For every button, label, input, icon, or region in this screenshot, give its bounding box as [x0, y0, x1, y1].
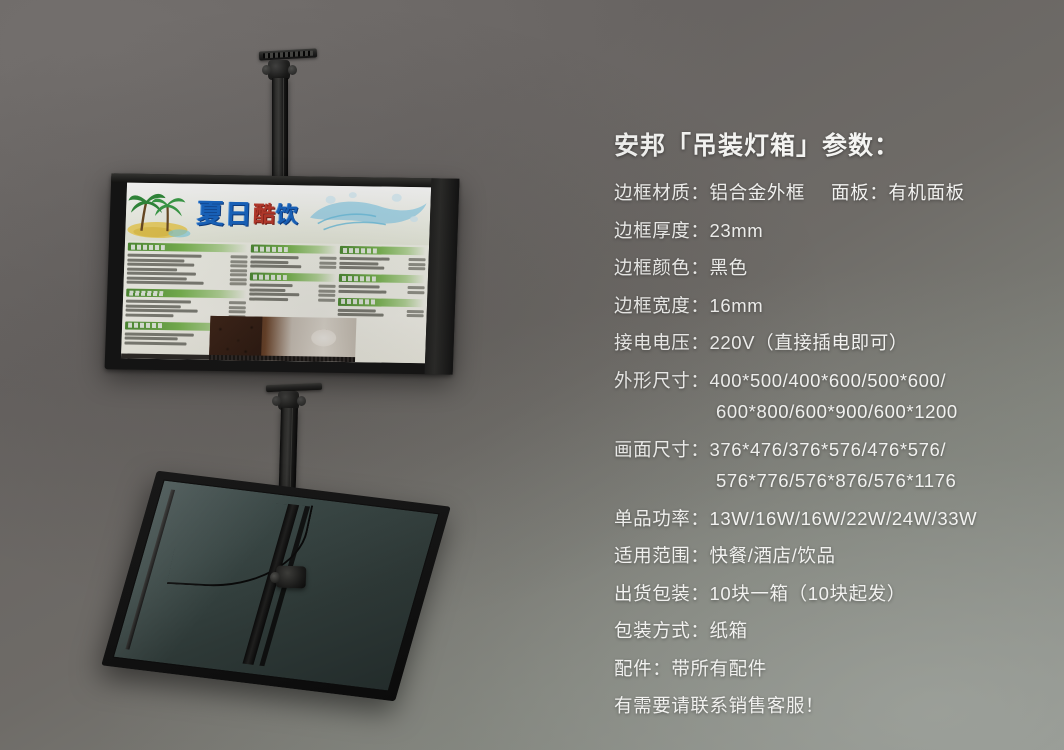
spec-value: 23mm	[710, 220, 764, 241]
hanging-lightbox-front: 夏 日 酷 饮	[105, 173, 460, 374]
menu-title-char-2: 日	[225, 201, 252, 228]
menu-title-char-4: 饮	[276, 204, 298, 226]
spec-value: 纸箱	[710, 620, 748, 641]
menu-rows	[338, 285, 424, 294]
spec-value: 220V（直接插电即可）	[710, 332, 908, 353]
spec-label: 包装方式：	[614, 620, 710, 641]
mounting-pole-top	[272, 78, 288, 182]
swivel-knob-left-lower	[272, 396, 281, 406]
spec-row-image-size: 画面尺寸：376*476/376*576/476*576/	[614, 441, 1050, 460]
spec-row-shipping-package: 出货包装：10块一箱（10块起发）	[614, 585, 1050, 604]
specs-title: 安邦「吊装灯箱」参数：	[614, 126, 1050, 162]
spec-label: 边框颜色：	[614, 257, 710, 278]
spec-row-thickness: 边框厚度：23mm	[614, 222, 1050, 241]
coffee-cup-photo	[209, 316, 357, 362]
spec-value: 铝合金外框	[710, 182, 806, 203]
section-banner	[249, 272, 335, 281]
spec-label: 单品功率：	[614, 508, 710, 529]
menu-row	[250, 260, 336, 264]
spec-label: 边框宽度：	[614, 295, 710, 316]
water-splash-graphic	[299, 187, 429, 239]
spec-label-panel: 面板：	[831, 182, 888, 203]
spec-row-voltage: 接电电压：220V（直接插电即可）	[614, 334, 1050, 353]
menu-row	[339, 261, 425, 265]
menu-row	[249, 292, 335, 296]
spec-value: 16mm	[710, 295, 764, 316]
menu-row	[339, 257, 425, 261]
menu-title-char-3: 酷	[253, 204, 275, 226]
spec-row-outer-size: 外形尺寸：400*500/400*600/500*600/	[614, 372, 1050, 391]
spec-value: 10块一箱（10块起发）	[710, 583, 906, 604]
menu-row	[250, 256, 336, 260]
swivel-knob-right-lower	[297, 396, 306, 406]
spec-row-image-size-cont: 576*776/576*876/576*1176	[614, 472, 1050, 491]
section-banner	[128, 243, 248, 253]
spec-row-material: 边框材质：铝合金外框面板：有机面板	[614, 184, 1050, 203]
menu-rows	[339, 257, 426, 270]
menu-rows	[337, 308, 423, 317]
swivel-knob-right-top	[288, 65, 297, 75]
menu-rows	[127, 254, 248, 286]
lightbox-menu-panel: 夏 日 酷 饮	[121, 183, 431, 364]
mount-clamp-knob	[270, 572, 280, 583]
pole-seam-top	[283, 78, 284, 182]
spec-label: 边框材质：	[614, 182, 710, 203]
menu-row	[250, 264, 336, 268]
back-panel-left-edge	[125, 489, 175, 649]
spec-label: 适用范围：	[614, 545, 710, 566]
spec-value: 带所有配件	[671, 658, 767, 679]
menu-title-char-1: 夏	[197, 200, 224, 227]
menu-row	[249, 283, 335, 287]
spec-label: 配件：	[614, 658, 671, 679]
spec-value: 黑色	[710, 257, 748, 278]
spec-row-outer-size-cont: 600*800/600*900/600*1200	[614, 403, 1050, 422]
menu-row	[249, 297, 335, 301]
spec-row-accessories: 配件：带所有配件	[614, 660, 1050, 679]
spec-row-packing-method: 包装方式：纸箱	[614, 622, 1050, 641]
section-banner	[339, 274, 425, 283]
spec-row-width: 边框宽度：16mm	[614, 297, 1050, 316]
spec-value: 400*500/400*600/500*600/	[710, 370, 947, 391]
menu-row	[338, 308, 424, 312]
spec-value: 13W/16W/16W/22W/24W/33W	[710, 508, 978, 529]
menu-row	[339, 266, 425, 270]
spec-row-application: 适用范围：快餐/酒店/饮品	[614, 547, 1050, 566]
swivel-knob-left-top	[262, 65, 271, 75]
menu-header: 夏 日 酷 饮	[125, 183, 431, 246]
swivel-joint-top	[268, 60, 290, 80]
menu-rows	[249, 283, 336, 301]
menu-bottom-strip	[121, 353, 209, 359]
spec-value: 376*476/376*576/476*576/	[710, 439, 947, 460]
spec-label: 出货包装：	[614, 583, 710, 604]
menu-row	[249, 288, 335, 292]
section-banner	[338, 297, 424, 306]
spec-label: 画面尺寸：	[614, 439, 710, 460]
spec-label: 外形尺寸：	[614, 370, 710, 391]
menu-row	[338, 285, 424, 289]
power-cable-lower	[246, 585, 290, 665]
section-banner	[126, 289, 246, 299]
product-photo-scene: 夏 日 酷 饮	[0, 0, 1064, 750]
menu-row	[337, 313, 423, 317]
spec-row-power: 单品功率：13W/16W/16W/22W/24W/33W	[614, 510, 1050, 529]
spec-value-panel: 有机面板	[888, 182, 964, 203]
section-banner	[340, 246, 426, 255]
menu-rows	[250, 256, 337, 269]
spec-label: 接电电压：	[614, 332, 710, 353]
spec-value: 快餐/酒店/饮品	[710, 545, 836, 566]
specs-footer-note: 有需要请联系销售客服！	[614, 697, 1050, 716]
menu-row	[127, 281, 247, 286]
lightbox-right-bezel	[425, 178, 460, 374]
spec-label: 边框厚度：	[614, 220, 710, 241]
specification-panel: 安邦「吊装灯箱」参数： 边框材质：铝合金外框面板：有机面板 边框厚度：23mm …	[614, 126, 1050, 735]
section-banner	[250, 245, 336, 254]
spec-row-color: 边框颜色：黑色	[614, 259, 1050, 278]
menu-row	[338, 289, 424, 293]
mount-clamp-bracket	[276, 565, 307, 588]
